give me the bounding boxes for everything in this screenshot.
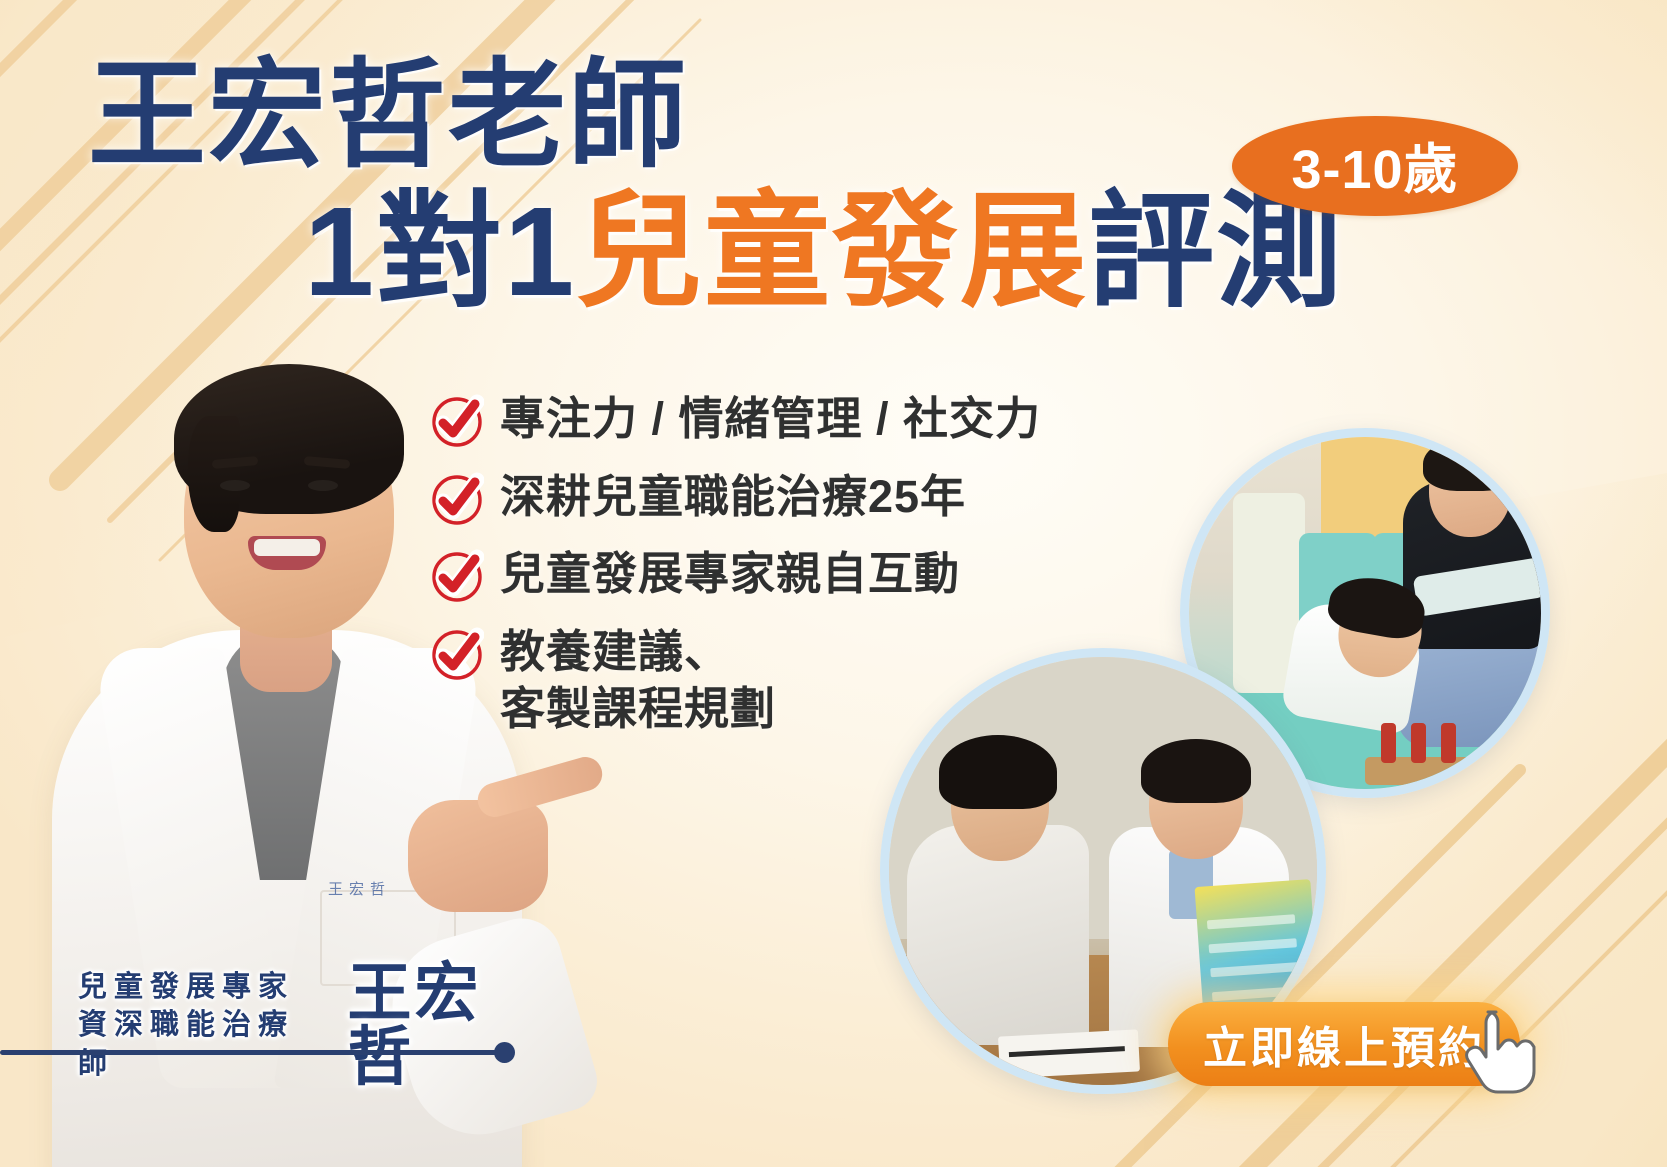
red-peg [1381, 723, 1396, 763]
signature-divider-dot [494, 1042, 515, 1063]
age-range-badge: 3-10歲 [1232, 116, 1518, 216]
report-paper [998, 1029, 1140, 1078]
signature-name: 王宏哲 [347, 961, 548, 1089]
red-peg [1441, 723, 1456, 763]
signature-block: 兒童發展專家 資深職能治療師 王宏哲 [78, 955, 548, 1083]
list-item: 兒童發展專家親自互動 [430, 545, 1041, 603]
signature-title-primary: 兒童發展專家 [78, 968, 329, 1006]
pointing-hand [408, 800, 548, 912]
list-item-label: 教養建議、 [500, 623, 776, 681]
headline-highlight: 兒童發展 [576, 181, 1088, 322]
check-circle-icon [430, 394, 484, 448]
headline-prefix: 1對1 [304, 181, 576, 322]
book-online-button[interactable]: 立即線上預約 [1168, 1002, 1520, 1086]
coat-embroidered-name: 王宏哲 [328, 878, 391, 899]
list-item-label-second-line: 客製課程規劃 [500, 680, 776, 738]
therapist-hair [1423, 437, 1517, 491]
list-item-label: 專注力 / 情緒管理 / 社交力 [500, 390, 1041, 448]
list-item: 教養建議、 客製課程規劃 [430, 623, 1041, 738]
check-circle-icon [430, 549, 484, 603]
book-online-label: 立即線上預約 [1203, 1012, 1485, 1076]
signature-title-secondary: 資深職能治療師 [78, 1006, 329, 1083]
doctor-hair [1141, 739, 1251, 803]
list-item-label-multiline: 教養建議、 客製課程規劃 [500, 623, 776, 738]
signature-titles: 兒童發展專家 資深職能治療師 [78, 968, 329, 1083]
list-item: 專注力 / 情緒管理 / 社交力 [430, 390, 1041, 448]
eye-left [220, 480, 250, 491]
list-item: 深耕兒童職能治療25年 [430, 468, 1041, 526]
signature-divider-line [0, 1050, 500, 1055]
check-circle-icon [430, 627, 484, 681]
hair [174, 364, 404, 514]
red-peg [1411, 723, 1426, 763]
age-range-label: 3-10歲 [1291, 125, 1458, 204]
list-item-label: 兒童發展專家親自互動 [500, 545, 960, 603]
promo-banner: 王宏哲 王宏哲老師 1對1兒童發展評測 3-10歲 專注力 / 情緒管理 / 社… [0, 0, 1667, 1167]
list-item-label: 深耕兒童職能治療25年 [500, 468, 966, 526]
assessment-chart-board [1195, 879, 1320, 1019]
mouth [248, 536, 326, 570]
check-circle-icon [430, 472, 484, 526]
feature-list: 專注力 / 情緒管理 / 社交力 深耕兒童職能治療25年 兒童發展專家親 [430, 390, 1041, 758]
eye-right [308, 480, 338, 491]
